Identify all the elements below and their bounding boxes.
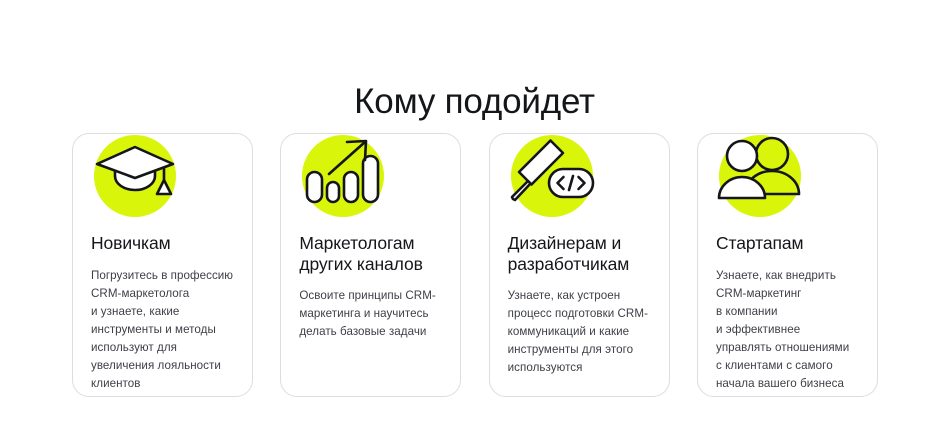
card-text-line: маркетинга и научитесь xyxy=(299,305,448,323)
card-body: Стартапам Узнаете, как внедрить CRM-марк… xyxy=(716,233,865,393)
card-text-line: делать базовые задачи xyxy=(299,323,448,341)
card-text-line: и узнаете, какие xyxy=(91,303,240,321)
card-text-line: Освоите принципы CRM- xyxy=(299,287,448,305)
card-text-line: CRM-маркетинг xyxy=(716,285,865,303)
audience-card-startups[interactable]: Стартапам Узнаете, как внедрить CRM-марк… xyxy=(697,133,878,397)
card-body: Дизайнерам и разработчикам Узнаете, как … xyxy=(508,233,657,377)
card-text-line: инструменты для этого xyxy=(508,341,657,359)
card-text-line: инструменты и методы xyxy=(91,321,240,339)
card-title: Стартапам xyxy=(716,233,865,254)
card-text-line: используются xyxy=(508,359,657,377)
card-title: Новичкам xyxy=(91,233,240,254)
card-title-line: Маркетологам xyxy=(299,233,414,253)
card-title: Маркетологам других каналов xyxy=(299,233,448,275)
card-title-line: Дизайнерам xyxy=(508,233,607,253)
audience-card-beginners[interactable]: Новичкам Погрузитесь в профессию CRM-мар… xyxy=(72,133,253,397)
audience-card-designers-developers[interactable]: Дизайнерам и разработчикам Узнаете, как … xyxy=(489,133,670,397)
card-text-line: используют для xyxy=(91,339,240,357)
card-text-line: управлять отношениями xyxy=(716,339,865,357)
card-description: Погрузитесь в профессию CRM-маркетолога … xyxy=(91,267,240,393)
two-people-icon xyxy=(712,128,808,224)
card-text-line: клиентов xyxy=(91,375,240,393)
card-body: Маркетологам других каналов Освоите прин… xyxy=(299,233,448,341)
bar-chart-growth-icon xyxy=(295,128,391,224)
card-description: Узнаете, как внедрить CRM-маркетинг в ко… xyxy=(716,267,865,393)
audience-card-list: Новичкам Погрузитесь в профессию CRM-мар… xyxy=(72,133,878,397)
card-text-line: процесс подготовки CRM- xyxy=(508,305,657,323)
card-text-line: коммуникаций и какие xyxy=(508,323,657,341)
card-body: Новичкам Погрузитесь в профессию CRM-мар… xyxy=(91,233,240,393)
card-description: Узнаете, как устроен процесс подготовки … xyxy=(508,287,657,377)
who-is-it-for-section: Кому подойдет Новичкам Погрузитесь xyxy=(0,0,949,443)
card-text-line: Погрузитесь в профессию xyxy=(91,267,240,285)
card-text-line: и эффективнее xyxy=(716,321,865,339)
card-text-line: в компании xyxy=(716,303,865,321)
card-text-line: Узнаете, как устроен xyxy=(508,287,657,305)
audience-card-marketers[interactable]: Маркетологам других каналов Освоите прин… xyxy=(280,133,461,397)
graduation-cap-icon xyxy=(87,128,183,224)
card-text-line: начала вашего бизнеса xyxy=(716,375,865,393)
card-text-line: Узнаете, как внедрить xyxy=(716,267,865,285)
card-title-line: других каналов xyxy=(299,254,422,274)
card-text-line: CRM-маркетолога xyxy=(91,285,240,303)
pencil-code-icon xyxy=(504,128,600,224)
card-text-line: увеличения лояльности xyxy=(91,357,240,375)
page-title: Кому подойдет xyxy=(0,81,949,123)
card-text-line: с клиентами с самого xyxy=(716,357,865,375)
card-title: Дизайнерам и разработчикам xyxy=(508,233,657,275)
card-description: Освоите принципы CRM- маркетинга и научи… xyxy=(299,287,448,341)
